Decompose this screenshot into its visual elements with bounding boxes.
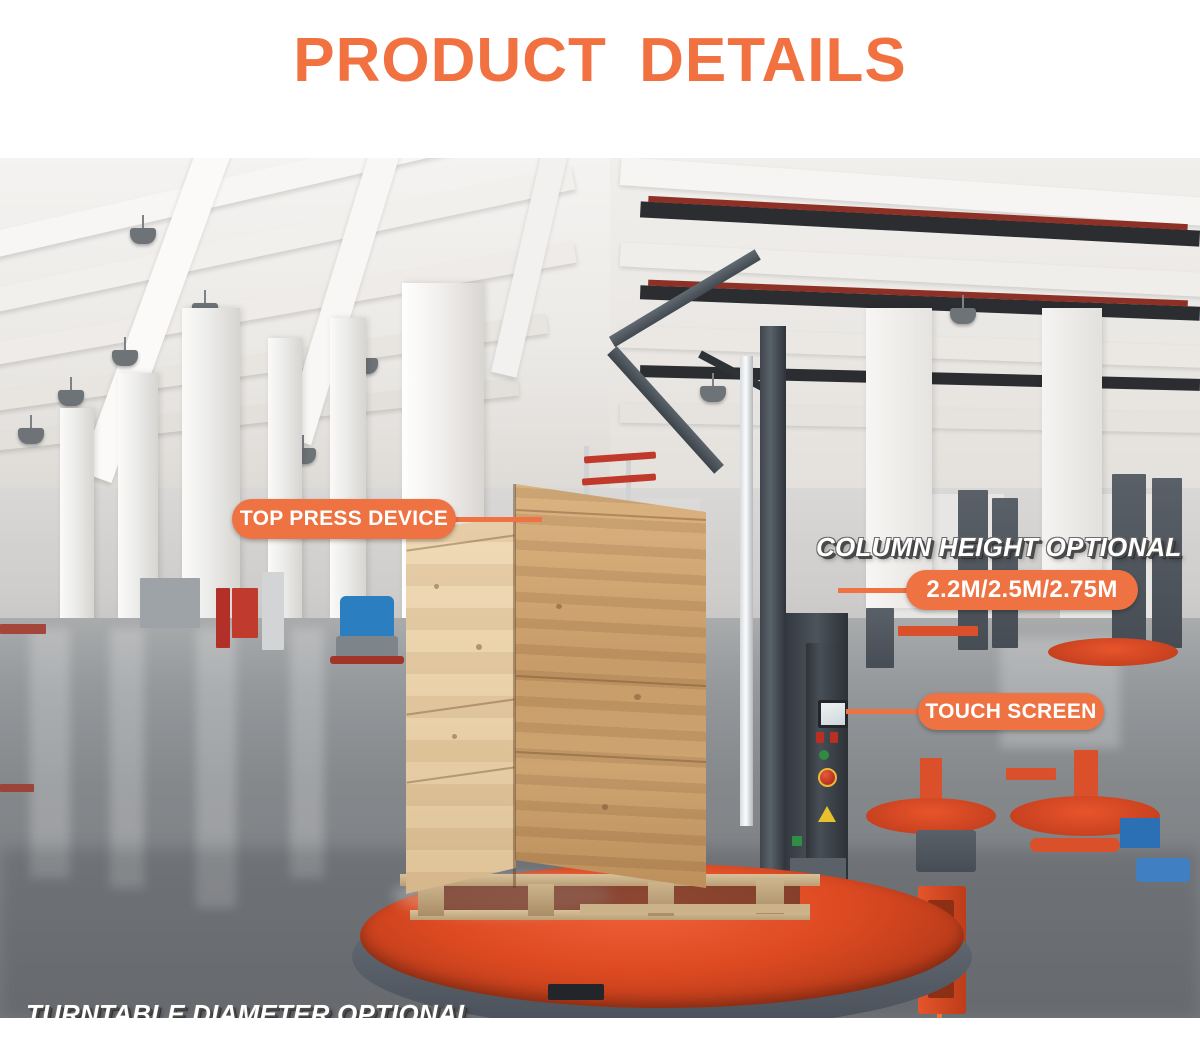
page-title: PRODUCT DETAILS [293, 30, 906, 128]
product-details-page: PRODUCT DETAILS [0, 0, 1200, 1043]
wood-knot [602, 804, 608, 810]
leader-line-column-height [838, 588, 916, 593]
background-turntable [1048, 638, 1178, 666]
background-ladder [262, 572, 284, 650]
structural-column [330, 318, 366, 618]
background-drum [1136, 858, 1190, 882]
background-wrapper-arm [1030, 838, 1120, 852]
background-equipment [0, 624, 46, 634]
structural-column [866, 308, 932, 608]
background-floor-scrubber [330, 656, 404, 664]
panel-indicator [792, 836, 802, 846]
callout-column-height-heading: COLUMN HEIGHT OPTIONAL [816, 532, 1182, 563]
panel-start-button[interactable] [819, 750, 829, 760]
callout-turntable-heading: TURNTABLE DIAMETER OPTIONAL [26, 999, 473, 1018]
wood-knot [556, 604, 562, 609]
background-floor-scrubber [340, 596, 394, 638]
background-equipment [140, 578, 200, 628]
floor-reflection [30, 628, 70, 878]
leader-line-film-cutting [937, 1014, 942, 1018]
wood-knot [634, 694, 641, 700]
mast-lift-track [740, 356, 753, 826]
turntable-ramp-slot [548, 984, 604, 1000]
floor-reflection [290, 628, 324, 878]
emergency-stop-button[interactable] [818, 768, 837, 787]
callout-touch-screen[interactable]: TOUCH SCREEN [918, 693, 1104, 730]
leader-line-top-press [452, 517, 542, 522]
background-wrapper-mast [1152, 478, 1182, 648]
background-floor-scrubber [336, 636, 398, 658]
wood-knot [452, 734, 457, 739]
crate-corner-edge [513, 484, 516, 888]
callout-column-height-value[interactable]: 2.2M/2.5M/2.75M [906, 570, 1138, 610]
control-panel-screen[interactable] [818, 700, 848, 728]
wood-knot [476, 644, 482, 650]
background-fire-cabinet [232, 588, 258, 638]
panel-button[interactable] [816, 732, 824, 743]
crate-face-right [515, 484, 706, 888]
machine-mast [760, 326, 786, 926]
background-turntable [866, 798, 996, 834]
background-equipment [0, 784, 34, 792]
wood-knot [434, 584, 439, 589]
background-wrapper-arm [898, 626, 978, 636]
background-fire-extinguisher [216, 588, 230, 648]
page-header: PRODUCT DETAILS [0, 0, 1200, 158]
background-wrapper-arm [1006, 768, 1056, 780]
pallet-board [580, 904, 810, 913]
warning-triangle-icon [818, 806, 836, 822]
wooden-crate [406, 484, 706, 894]
product-photo: TOP PRESS DEVICE COLUMN HEIGHT OPTIONAL … [0, 158, 1200, 1018]
background-wrapper-mast [866, 608, 894, 668]
callout-top-press-device[interactable]: TOP PRESS DEVICE [232, 499, 456, 539]
panel-button[interactable] [830, 732, 838, 743]
background-drum [1120, 818, 1160, 848]
leader-line-touch-screen [846, 709, 922, 714]
